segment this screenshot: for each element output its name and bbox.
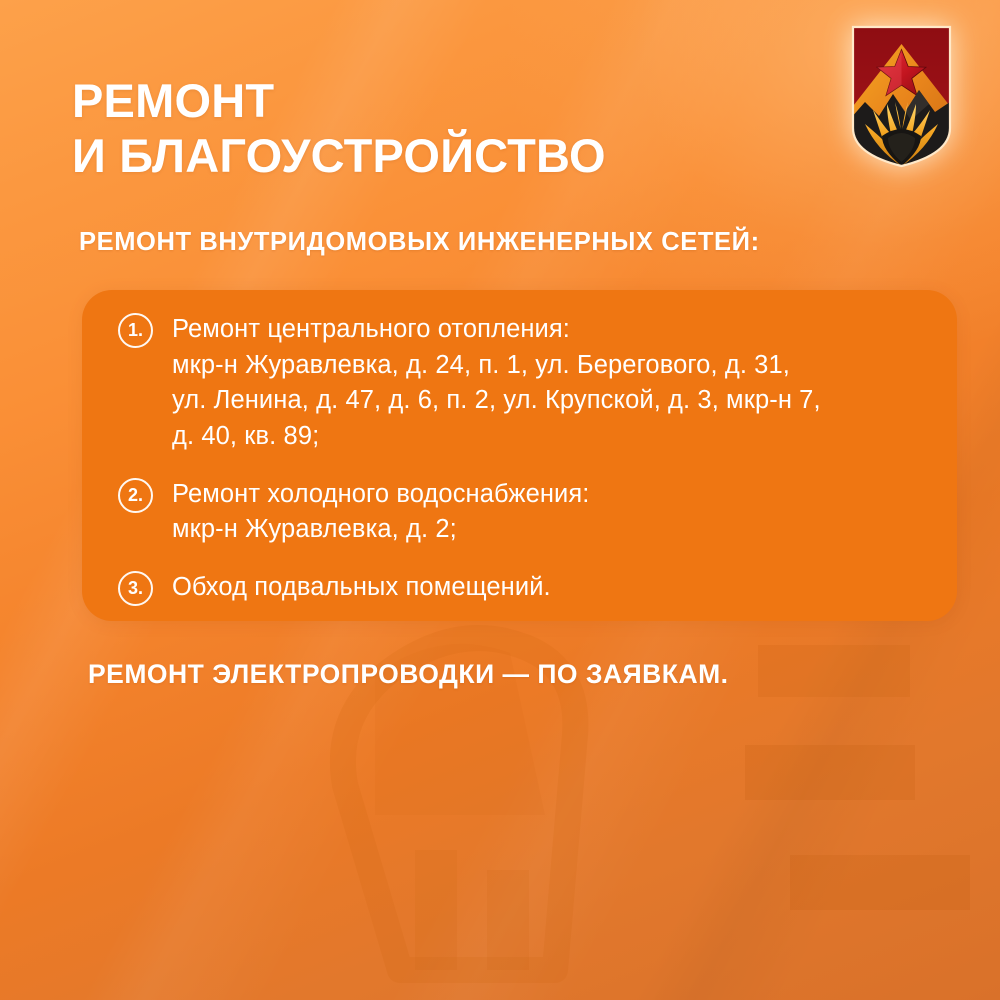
list-marker-1: 1. <box>118 313 153 348</box>
coat-of-arms-emblem <box>849 24 954 169</box>
list-item: 1. Ремонт центрального отопления: мкр-н … <box>118 312 948 455</box>
list-item-text-3: Обход подвальных помещений. <box>172 570 551 606</box>
list-item-text-2: Ремонт холодного водоснабжения: мкр-н Жу… <box>172 477 590 548</box>
list-item: 2. Ремонт холодного водоснабжения: мкр-н… <box>118 477 948 548</box>
section-subtitle: РЕМОНТ ВНУТРИДОМОВЫХ ИНЖЕНЕРНЫХ СЕТЕЙ: <box>79 228 760 257</box>
broom-watermark <box>225 565 785 985</box>
footer-note: РЕМОНТ ЭЛЕКТРОПРОВОДКИ — ПО ЗАЯВКАМ. <box>88 659 729 690</box>
list-item-text-1: Ремонт центрального отопления: мкр-н Жур… <box>172 312 821 455</box>
repair-list: 1. Ремонт центрального отопления: мкр-н … <box>118 312 948 606</box>
watermark-rectangle-top <box>758 645 958 715</box>
poster-canvas: РЕМОНТ И БЛАГОУСТРОЙСТВО <box>0 0 1000 1000</box>
list-marker-3: 3. <box>118 571 153 606</box>
list-item: 3. Обход подвальных помещений. <box>118 570 948 606</box>
page-title: РЕМОНТ И БЛАГОУСТРОЙСТВО <box>72 74 606 183</box>
list-marker-2: 2. <box>118 478 153 513</box>
watermark-rectangles <box>745 745 985 945</box>
